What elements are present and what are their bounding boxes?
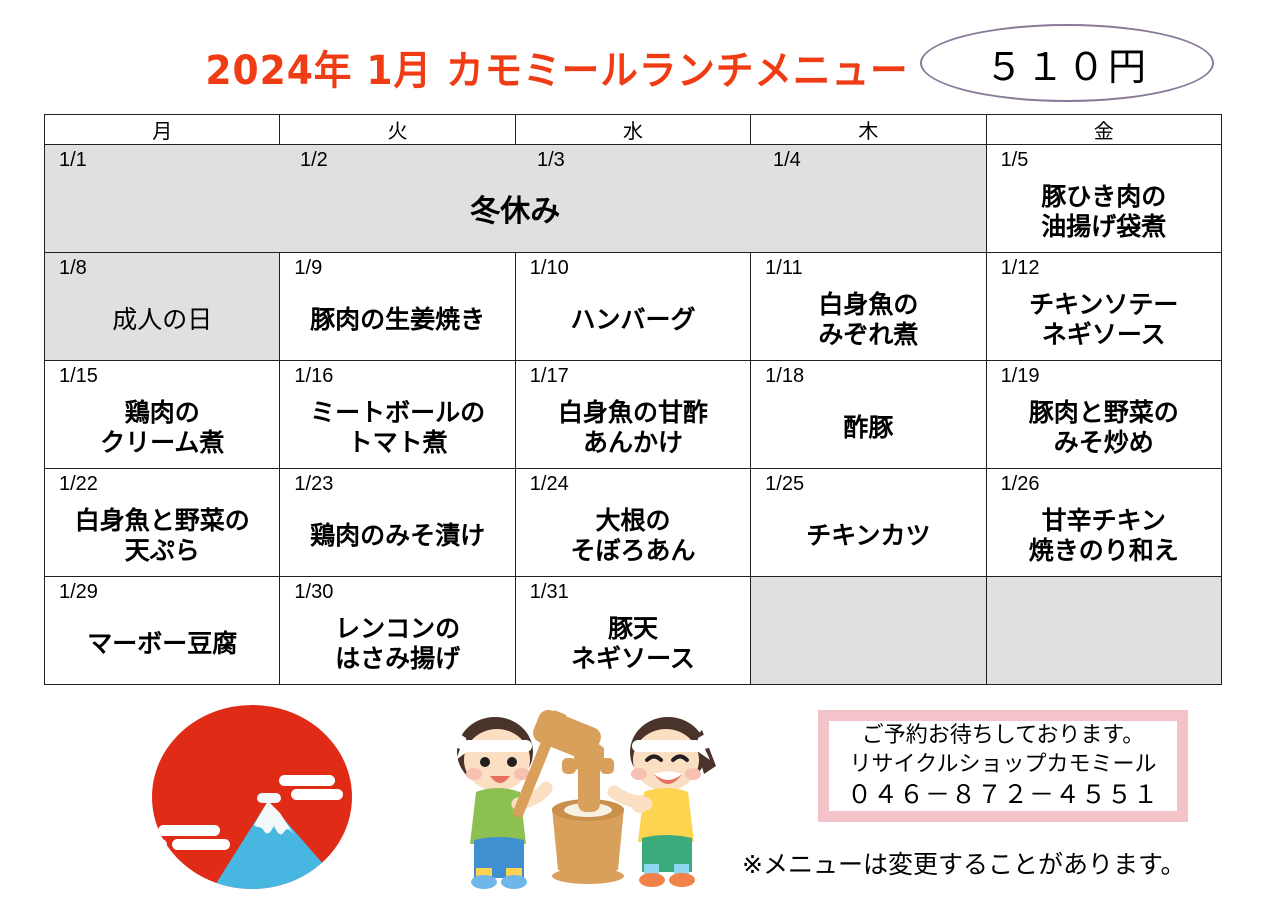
- reservation-line-2: リサイクルショップカモミール: [850, 750, 1157, 779]
- menu-cell: 1/25チキンカツ: [751, 469, 986, 577]
- cell-item-text: 酢豚: [751, 391, 985, 464]
- reservation-stamp-box: ご予約お待ちしております。 リサイクルショップカモミール ０４６－８７２－４５５…: [818, 710, 1188, 822]
- menu-cell: 1/12チキンソテーネギソース: [986, 253, 1221, 361]
- cell-item-text: 白身魚のみぞれ煮: [751, 283, 985, 356]
- cell-item-text: レンコンのはさみ揚げ: [280, 607, 514, 680]
- menu-cell: 1/24大根のそぼろあん: [515, 469, 750, 577]
- cell-date: 1/29: [59, 581, 98, 603]
- cell-item-text: ハンバーグ: [516, 283, 750, 356]
- cell-item-text: 鶏肉のクリーム煮: [45, 391, 279, 464]
- cell-date: 1/30: [294, 581, 333, 603]
- menu-cell: 1/16ミートボールのトマト煮: [280, 361, 515, 469]
- menu-cell: 1/11白身魚のみぞれ煮: [751, 253, 986, 361]
- cell-item-text: 冬休み: [45, 175, 986, 248]
- cell-item-text: チキンカツ: [751, 499, 985, 572]
- mochi-pounding-children-icon: [440, 700, 730, 890]
- menu-cell: 1/31豚天ネギソース: [515, 577, 750, 685]
- menu-cell: 1/18酢豚: [751, 361, 986, 469]
- cell-date: 1/3: [537, 149, 565, 172]
- cell-date: 1/26: [1001, 473, 1040, 495]
- cell-date: 1/15: [59, 365, 98, 387]
- table-row: 1/29マーボー豆腐1/30レンコンのはさみ揚げ1/31豚天ネギソース: [45, 577, 1222, 685]
- cell-date: 1/5: [1001, 149, 1029, 171]
- cell-date: 1/4: [773, 149, 801, 172]
- winter-break-cell: 1/1 1/2 1/3 1/4 冬休み: [45, 145, 987, 253]
- cell-item-text: 豚肉と野菜のみそ炒め: [987, 391, 1221, 464]
- cell-date: 1/2: [300, 149, 328, 172]
- menu-cell: 1/23鶏肉のみそ漬け: [280, 469, 515, 577]
- price-badge: ５１０円: [920, 24, 1214, 102]
- cell-item-text: 甘辛チキン焼きのり和え: [987, 499, 1221, 572]
- cell-date: 1/19: [1001, 365, 1040, 387]
- menu-cell: 1/26甘辛チキン焼きのり和え: [986, 469, 1221, 577]
- cell-item-text: [751, 607, 985, 680]
- table-row: 1/8成人の日1/9豚肉の生姜焼き1/10ハンバーグ1/11白身魚のみぞれ煮1/…: [45, 253, 1222, 361]
- cell-item-text: 豚ひき肉の油揚げ袋煮: [987, 175, 1221, 248]
- cell-date: 1/10: [530, 257, 569, 279]
- menu-cell: 1/10ハンバーグ: [515, 253, 750, 361]
- menu-cell: 1/22白身魚と野菜の天ぷら: [45, 469, 280, 577]
- column-header-thu: 木: [751, 115, 986, 145]
- menu-cell: 1/19豚肉と野菜のみそ炒め: [986, 361, 1221, 469]
- cell-item-text: チキンソテーネギソース: [987, 283, 1221, 356]
- column-header-tue: 火: [280, 115, 515, 145]
- cell-date: 1/9: [294, 257, 322, 279]
- menu-change-footnote: ※メニューは変更することがあります。: [742, 845, 1185, 881]
- page-header: 2024年 1月 カモミールランチメニュー ５１０円: [0, 0, 1280, 110]
- column-header-fri: 金: [986, 115, 1221, 145]
- cell-date: 1/12: [1001, 257, 1040, 279]
- menu-cell: 1/8成人の日: [45, 253, 280, 361]
- cell-date: 1/23: [294, 473, 333, 495]
- empty-cell: [751, 577, 986, 685]
- cell-item-text: 白身魚の甘酢あんかけ: [516, 391, 750, 464]
- table-header-row: 月 火 水 木 金: [45, 115, 1222, 145]
- table-row: 1/15鶏肉のクリーム煮1/16ミートボールのトマト煮1/17白身魚の甘酢あんか…: [45, 361, 1222, 469]
- menu-cell: 1/29マーボー豆腐: [45, 577, 280, 685]
- cell-date: 1/16: [294, 365, 333, 387]
- winter-break-dates: 1/1 1/2 1/3 1/4: [45, 149, 986, 175]
- page-title: 2024年 1月 カモミールランチメニュー: [205, 38, 844, 96]
- menu-cell: 1/17白身魚の甘酢あんかけ: [515, 361, 750, 469]
- cell-date: 1/18: [765, 365, 804, 387]
- column-header-mon: 月: [45, 115, 280, 145]
- menu-cell: 1/5 豚ひき肉の油揚げ袋煮: [986, 145, 1221, 253]
- column-header-wed: 水: [515, 115, 750, 145]
- cell-date: 1/22: [59, 473, 98, 495]
- menu-cell: 1/30レンコンのはさみ揚げ: [280, 577, 515, 685]
- cell-item-text: 豚肉の生姜焼き: [280, 283, 514, 356]
- reservation-line-1: ご予約お待ちしております。: [862, 721, 1144, 750]
- cell-item-text: ミートボールのトマト煮: [280, 391, 514, 464]
- cell-item-text: 鶏肉のみそ漬け: [280, 499, 514, 572]
- monthly-menu-table: 月 火 水 木 金 1/1 1/2 1/3 1/4 冬休み: [44, 114, 1222, 685]
- cell-date: 1/31: [530, 581, 569, 603]
- table-row: 1/22白身魚と野菜の天ぷら1/23鶏肉のみそ漬け1/24大根のそぼろあん1/2…: [45, 469, 1222, 577]
- cell-item-text: マーボー豆腐: [45, 607, 279, 680]
- cell-date: 1/24: [530, 473, 569, 495]
- price-badge-text: ５１０円: [985, 36, 1149, 91]
- cell-date: 1/8: [59, 257, 87, 279]
- cell-date: 1/11: [765, 257, 802, 279]
- empty-cell: [986, 577, 1221, 685]
- cell-item-text: 成人の日: [45, 283, 279, 356]
- table-row: 1/1 1/2 1/3 1/4 冬休み 1/5 豚ひき肉の油揚げ袋煮: [45, 145, 1222, 253]
- cell-item-text: [987, 607, 1221, 680]
- reservation-stamp-inner: ご予約お待ちしております。 リサイクルショップカモミール ０４６－８７２－４５５…: [828, 720, 1178, 812]
- reservation-phone: ０４６－８７２－４５５１: [847, 779, 1159, 812]
- menu-cell: 1/15鶏肉のクリーム煮: [45, 361, 280, 469]
- cell-date: 1/25: [765, 473, 804, 495]
- cell-date: 1/17: [530, 365, 569, 387]
- cell-item-text: 大根のそぼろあん: [516, 499, 750, 572]
- sunrise-mount-fuji-icon: [150, 705, 355, 890]
- cell-date: 1/1: [59, 149, 87, 172]
- cell-item-text: 白身魚と野菜の天ぷら: [45, 499, 279, 572]
- cell-item-text: 豚天ネギソース: [516, 607, 750, 680]
- menu-cell: 1/9豚肉の生姜焼き: [280, 253, 515, 361]
